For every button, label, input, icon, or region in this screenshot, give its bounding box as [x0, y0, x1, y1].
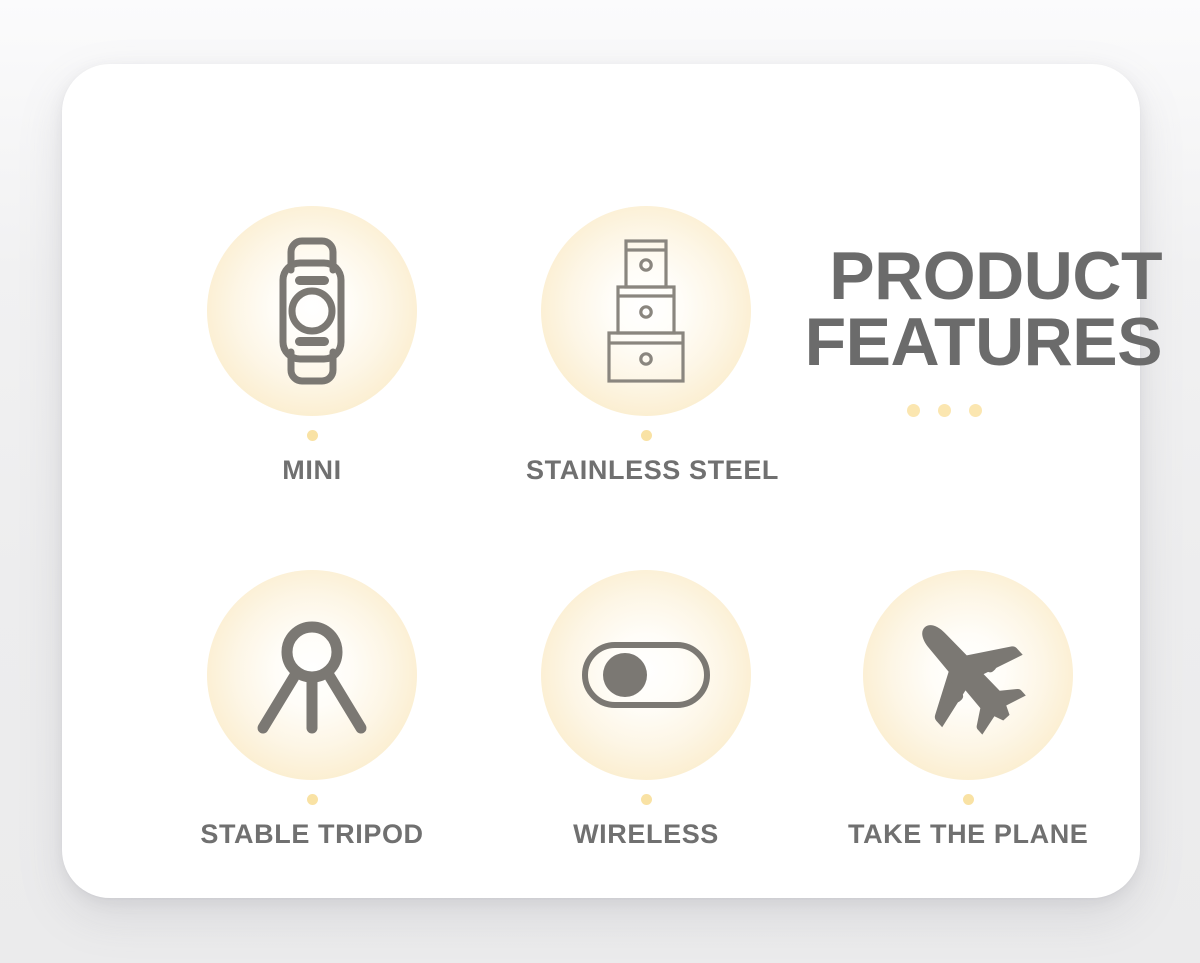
feature-dot [963, 794, 974, 805]
feature-dot [641, 430, 652, 441]
feature-label-mini: MINI [192, 455, 432, 486]
feature-glow [207, 206, 417, 416]
product-features-card: PRODUCT FEATURES MIN [62, 64, 1140, 898]
headline-dots [762, 404, 1162, 417]
feature-label-stainless-steel: STAINLESS STEEL [526, 455, 766, 486]
headline-line-2: FEATURES [762, 310, 1162, 376]
feature-glow [207, 570, 417, 780]
headline-dot-1 [907, 404, 920, 417]
feature-label-wireless: WIRELESS [526, 819, 766, 850]
feature-dot [307, 794, 318, 805]
airplane-icon [898, 605, 1038, 745]
feature-glow [541, 570, 751, 780]
feature-dot [307, 430, 318, 441]
page-title: PRODUCT FEATURES [762, 244, 1162, 417]
feature-glow [863, 570, 1073, 780]
feature-tile-stainless-steel[interactable]: STAINLESS STEEL [526, 206, 766, 486]
stacked-boxes-icon [600, 235, 692, 387]
headline-dot-2 [938, 404, 951, 417]
feature-glow [541, 206, 751, 416]
feature-label-take-the-plane: TAKE THE PLANE [848, 819, 1088, 850]
feature-label-stable-tripod: STABLE TRIPOD [192, 819, 432, 850]
smart-band-icon [264, 236, 360, 386]
tripod-icon [247, 610, 377, 740]
feature-tile-take-the-plane[interactable]: TAKE THE PLANE [848, 570, 1088, 850]
feature-tile-stable-tripod[interactable]: STABLE TRIPOD [192, 570, 432, 850]
headline-dot-3 [969, 404, 982, 417]
feature-tile-mini[interactable]: MINI [192, 206, 432, 486]
headline-line-1: PRODUCT [762, 244, 1162, 310]
feature-tile-wireless[interactable]: WIRELESS [526, 570, 766, 850]
feature-dot [641, 794, 652, 805]
toggle-switch-icon [580, 635, 712, 715]
